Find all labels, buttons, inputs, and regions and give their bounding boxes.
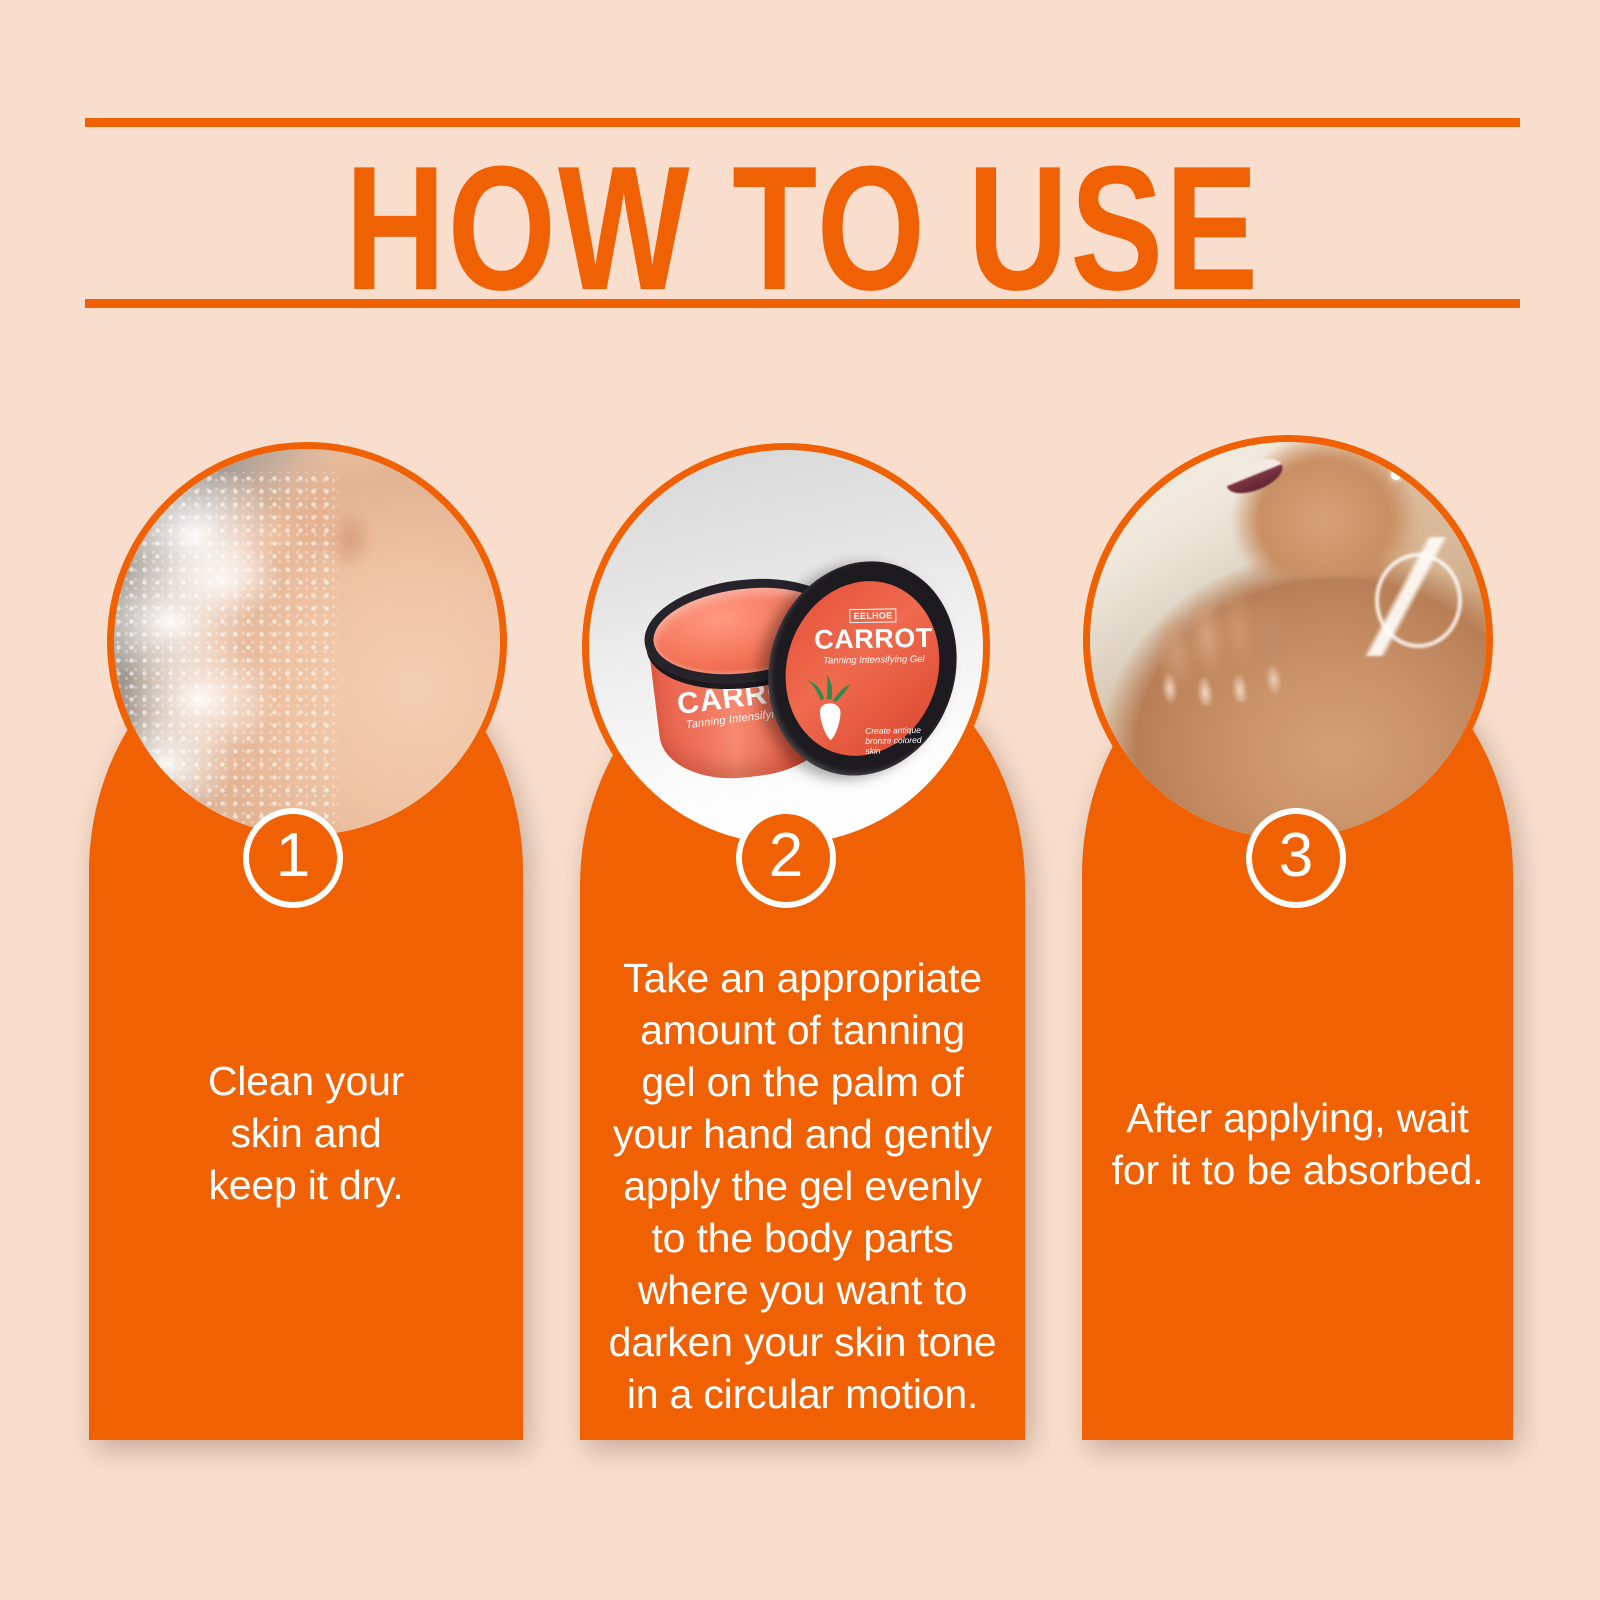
step-3-number-badge: 3 <box>1246 808 1346 908</box>
photo-bikini-knot <box>1375 553 1462 648</box>
step-1-photo-image <box>114 449 500 835</box>
product-lid-name: CARROT <box>809 624 937 656</box>
step-1-photo <box>107 442 507 842</box>
carrot-icon <box>795 664 869 747</box>
step-3-photo <box>1083 435 1493 845</box>
title-block: HOW TO USE <box>85 118 1520 308</box>
step-3-photo-image <box>1090 442 1486 838</box>
product-claim-text: Create antique bronze colored skin <box>865 725 924 756</box>
step-1-caption: Clean your skin and keep it dry. <box>89 1055 523 1211</box>
title-rule-top <box>85 118 1520 127</box>
step-2-photo-image: EELHOE CARROT Tanning Intensifying Gel E… <box>589 450 983 844</box>
page-title: HOW TO USE <box>135 131 1470 326</box>
step-2-number-badge: 2 <box>736 808 836 908</box>
step-3-caption: After applying, wait for it to be absorb… <box>1072 1092 1523 1196</box>
step-2-caption: Take an appropriate amount of tanning ge… <box>575 952 1030 1420</box>
product-lid-brand: EELHOE <box>849 609 896 624</box>
photo-earring <box>1391 470 1401 480</box>
photo-bubbles-layer <box>114 472 338 827</box>
step-2-photo: EELHOE CARROT Tanning Intensifying Gel E… <box>582 443 990 851</box>
step-1-number-badge: 1 <box>243 808 343 908</box>
product-lid-text: EELHOE CARROT Tanning Intensifying Gel <box>809 605 938 667</box>
